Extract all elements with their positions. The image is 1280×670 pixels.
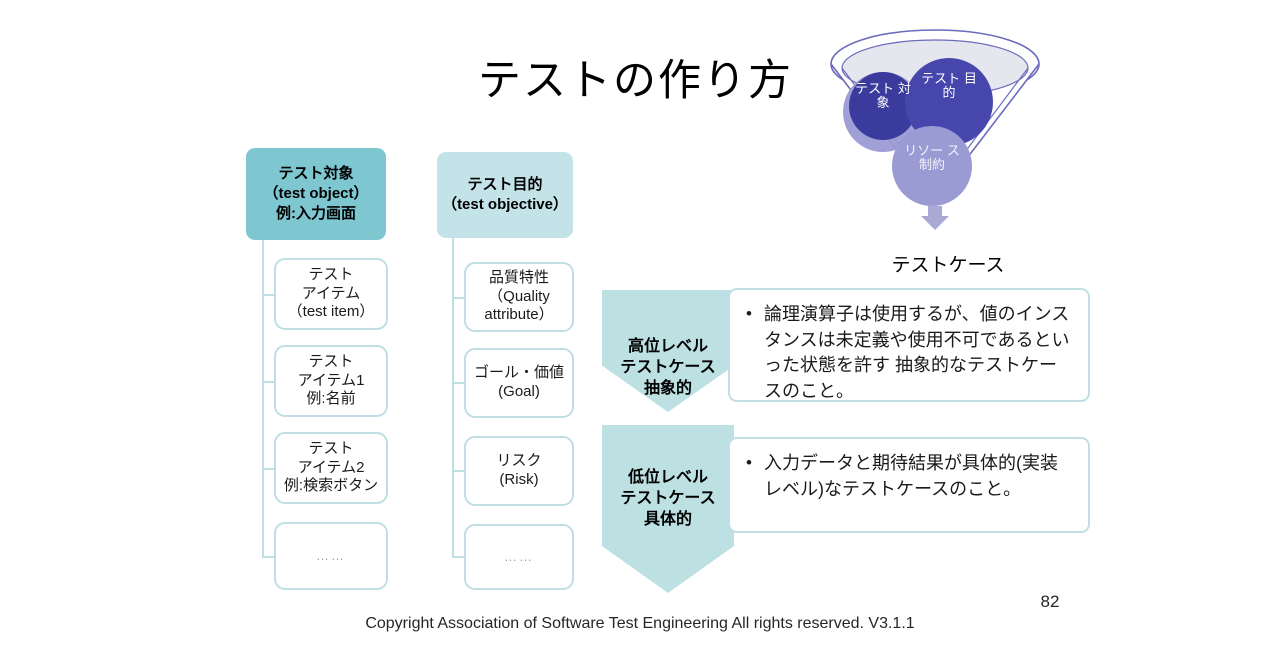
- chevron-high-level-line2: テストケース: [602, 358, 734, 379]
- tree-node-test-item-line2: アイテム: [302, 285, 361, 304]
- tree-header-test-object-line3: 例:入力画面: [276, 204, 356, 224]
- page-title: テストの作り方: [478, 46, 793, 108]
- callout-low-level-bullet: 入力データと期待結果が具体的(実装レベル)なテストケースのこと。: [764, 451, 1072, 502]
- tree-node-goal[interactable]: ゴール・価値 (Goal): [464, 348, 574, 418]
- funnel-diagram: テスト 対象 テスト 目的 リソー ス制約: [822, 22, 1066, 232]
- tree-node-quality-attribute-line3: attribute）: [484, 306, 553, 325]
- tree-node-objective-more[interactable]: ……: [464, 524, 574, 590]
- callout-high-level-bullet: 論理演算子は使用するが、値のインスタンスは未定義や使用不可であるといった状態を許…: [764, 302, 1072, 404]
- tree-node-test-item-more[interactable]: ……: [274, 522, 388, 590]
- tree-header-test-object: テスト対象 （test object） 例:入力画面: [246, 148, 386, 240]
- tree-header-test-objective: テスト目的 （test objective）: [437, 152, 573, 238]
- tree-node-risk-line1: リスク: [496, 452, 541, 471]
- chevron-high-level-line1: 高位レベル: [602, 337, 734, 358]
- tree-header-test-objective-line2: （test objective）: [442, 195, 568, 215]
- tree-node-test-item-1[interactable]: テスト アイテム1 例:名前: [274, 345, 388, 417]
- tree-header-test-object-line2: （test object）: [263, 184, 368, 204]
- footer-copyright: Copyright Association of Software Test E…: [0, 615, 1280, 633]
- callout-low-level: 入力データと期待結果が具体的(実装レベル)なテストケースのこと。: [728, 437, 1090, 533]
- tree-node-test-item-2-line2: アイテム2: [298, 459, 365, 478]
- funnel-shape-svg: [822, 22, 1066, 232]
- tree-node-goal-line1: ゴール・価値: [474, 364, 564, 383]
- tree-node-quality-attribute[interactable]: 品質特性 （Quality attribute）: [464, 262, 574, 332]
- tree-spine-column-1: [262, 240, 264, 558]
- chevron-low-level-line3: 具体的: [602, 510, 734, 531]
- tree-node-quality-attribute-line2: （Quality: [488, 288, 550, 307]
- tree-spine-column-2: [452, 238, 454, 558]
- tree-node-test-item-2-line1: テスト: [308, 440, 353, 459]
- chevron-low-level-line1: 低位レベル: [602, 468, 734, 489]
- tree-node-test-item-line1: テスト: [308, 266, 353, 285]
- chevron-low-level-label: 低位レベル テストケース 具体的: [602, 468, 734, 530]
- funnel-down-arrow: [921, 206, 949, 230]
- tree-node-test-item-1-line2: アイテム1: [298, 372, 365, 391]
- tree-node-test-item-more-label: ……: [316, 548, 346, 564]
- page-number: 82: [1020, 592, 1080, 612]
- slide-canvas: テストの作り方 テスト 対象 テスト 目的 リソー ス制約: [0, 0, 1280, 670]
- tree-header-test-objective-line1: テスト目的: [467, 175, 542, 195]
- testcase-caption: テストケース: [868, 250, 1028, 277]
- chevron-low-level-line2: テストケース: [602, 489, 734, 510]
- tree-node-risk[interactable]: リスク (Risk): [464, 436, 574, 506]
- tree-node-objective-more-label: ……: [504, 549, 534, 565]
- tree-header-test-object-line1: テスト対象: [278, 164, 353, 184]
- chevron-high-level-label: 高位レベル テストケース 抽象的: [602, 337, 734, 399]
- tree-node-test-item-line3: （test item）: [288, 303, 375, 322]
- tree-node-risk-line2: (Risk): [499, 471, 538, 490]
- tree-node-test-item-1-line1: テスト: [308, 353, 353, 372]
- tree-node-test-item-1-line3: 例:名前: [306, 390, 355, 409]
- tree-node-goal-line2: (Goal): [498, 383, 540, 402]
- tree-node-test-item-2-line3: 例:検索ボタン: [284, 477, 378, 496]
- tree-node-quality-attribute-line1: 品質特性: [489, 269, 549, 288]
- tree-node-test-item[interactable]: テスト アイテム （test item）: [274, 258, 388, 330]
- chevron-high-level-line3: 抽象的: [602, 379, 734, 400]
- tree-node-test-item-2[interactable]: テスト アイテム2 例:検索ボタン: [274, 432, 388, 504]
- callout-high-level: 論理演算子は使用するが、値のインスタンスは未定義や使用不可であるといった状態を許…: [728, 288, 1090, 402]
